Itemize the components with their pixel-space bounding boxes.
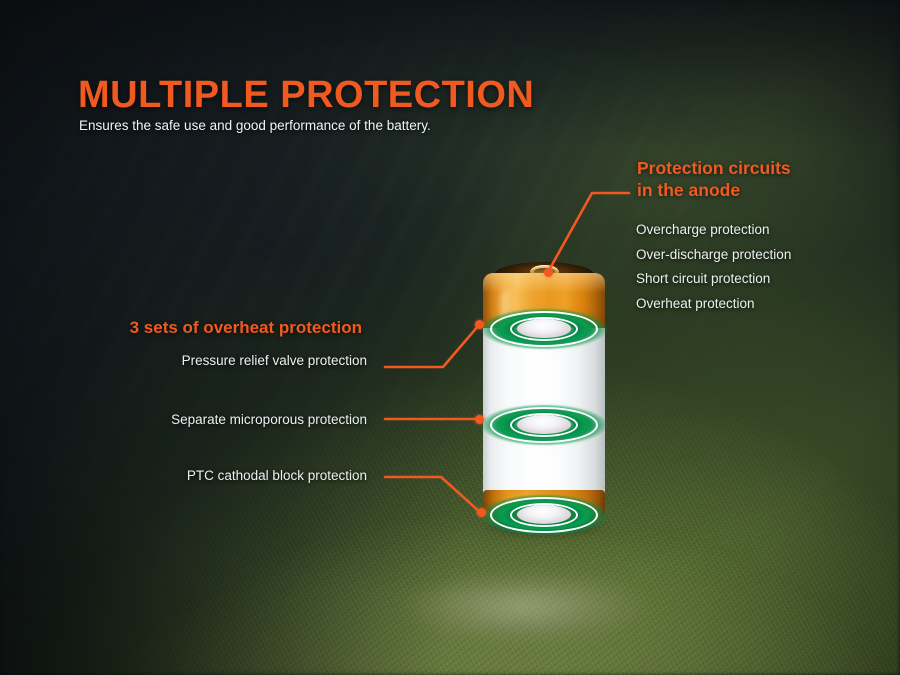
leader-line-ptc — [385, 477, 481, 513]
leader-dot-anode — [544, 268, 553, 277]
leader-line-pressure-valve — [385, 325, 479, 367]
leader-dot-pressure-valve — [475, 320, 484, 329]
leader-line-anode — [548, 193, 629, 272]
leader-lines — [0, 0, 900, 675]
leader-dot-ptc — [477, 508, 486, 517]
leader-dot-microporous — [475, 415, 484, 424]
infographic-canvas: MULTIPLE PROTECTION Ensures the safe use… — [0, 0, 900, 675]
